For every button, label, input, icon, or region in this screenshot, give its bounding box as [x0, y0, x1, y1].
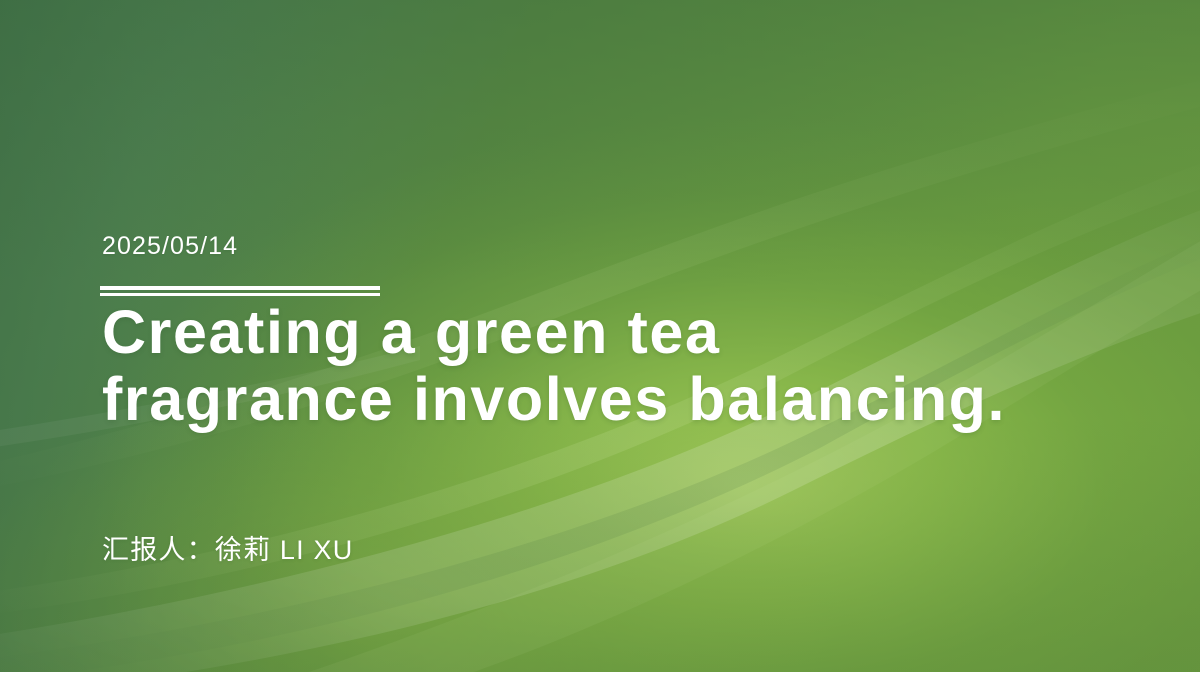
divider-rule-lower	[100, 293, 380, 296]
slide-presenter-byline: 汇报人：徐莉 LI XU	[102, 528, 353, 567]
title-divider-rules	[100, 286, 380, 296]
slide-content: 2025/05/14 Creating a green tea fragranc…	[102, 0, 1142, 675]
slide-date: 2025/05/14	[102, 231, 238, 261]
slide-title-line-2: fragrance involves balancing.	[102, 366, 1102, 433]
slide-title-line-1: Creating a green tea	[102, 299, 1102, 366]
slide-title: Creating a green tea fragrance involves …	[102, 299, 1102, 433]
title-slide: 2025/05/14 Creating a green tea fragranc…	[0, 0, 1200, 675]
